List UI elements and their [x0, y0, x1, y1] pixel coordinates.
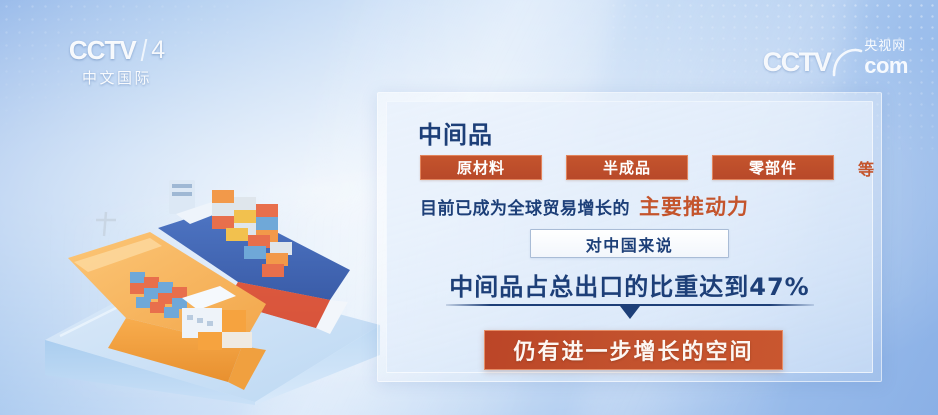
channel-logo: CCTV 4 中文国际 — [52, 34, 182, 88]
category-tag-row: 原材料 半成品 零部件 等 — [420, 155, 874, 180]
chevron-down-icon — [620, 306, 640, 319]
channel-logo-row: CCTV 4 — [69, 35, 165, 66]
site-watermark: CCTV 央视网 com — [763, 40, 908, 78]
panel-title: 中间品 — [418, 115, 493, 150]
tag-components: 零部件 — [712, 155, 834, 180]
conclusion-banner-label: 仍有进一步增长的空间 — [513, 334, 753, 366]
tag-suffix-etc: 等 — [858, 156, 874, 180]
down-caret-container — [378, 306, 881, 319]
container-ships-illustration — [30, 150, 380, 405]
watermark-brand-text: CCTV — [763, 47, 831, 78]
watermark-domain-text: com — [864, 55, 908, 77]
export-share-stat: 中间品占总出口的比重达到47% — [378, 267, 881, 302]
channel-brand-text: CCTV — [69, 35, 136, 66]
watermark-cn-text: 央视网 — [864, 40, 908, 53]
china-context-label: 对中国来说 — [586, 232, 674, 256]
channel-subtitle: 中文国际 — [82, 67, 152, 88]
driver-statement: 目前已成为全球贸易增长的 主要推动力 — [420, 191, 749, 221]
watermark-text-block: 央视网 com — [864, 40, 908, 77]
china-context-box: 对中国来说 — [530, 229, 729, 258]
driver-statement-prefix: 目前已成为全球贸易增长的 — [420, 194, 630, 219]
info-panel: 中间品 原材料 半成品 零部件 等 目前已成为全球贸易增长的 主要推动力 对中国… — [377, 92, 882, 382]
channel-number: 4 — [151, 36, 165, 65]
driver-statement-highlight: 主要推动力 — [639, 191, 749, 221]
channel-logo-divider — [140, 39, 146, 61]
infographic-stage: CCTV 4 中文国际 CCTV 央视网 com — [0, 0, 938, 415]
info-panel-content: 中间品 原材料 半成品 零部件 等 目前已成为全球贸易增长的 主要推动力 对中国… — [378, 93, 881, 381]
tag-raw-materials: 原材料 — [420, 155, 542, 180]
watermark-arc-icon — [834, 48, 860, 78]
tag-semi-finished: 半成品 — [566, 155, 688, 180]
conclusion-banner: 仍有进一步增长的空间 — [484, 330, 783, 370]
